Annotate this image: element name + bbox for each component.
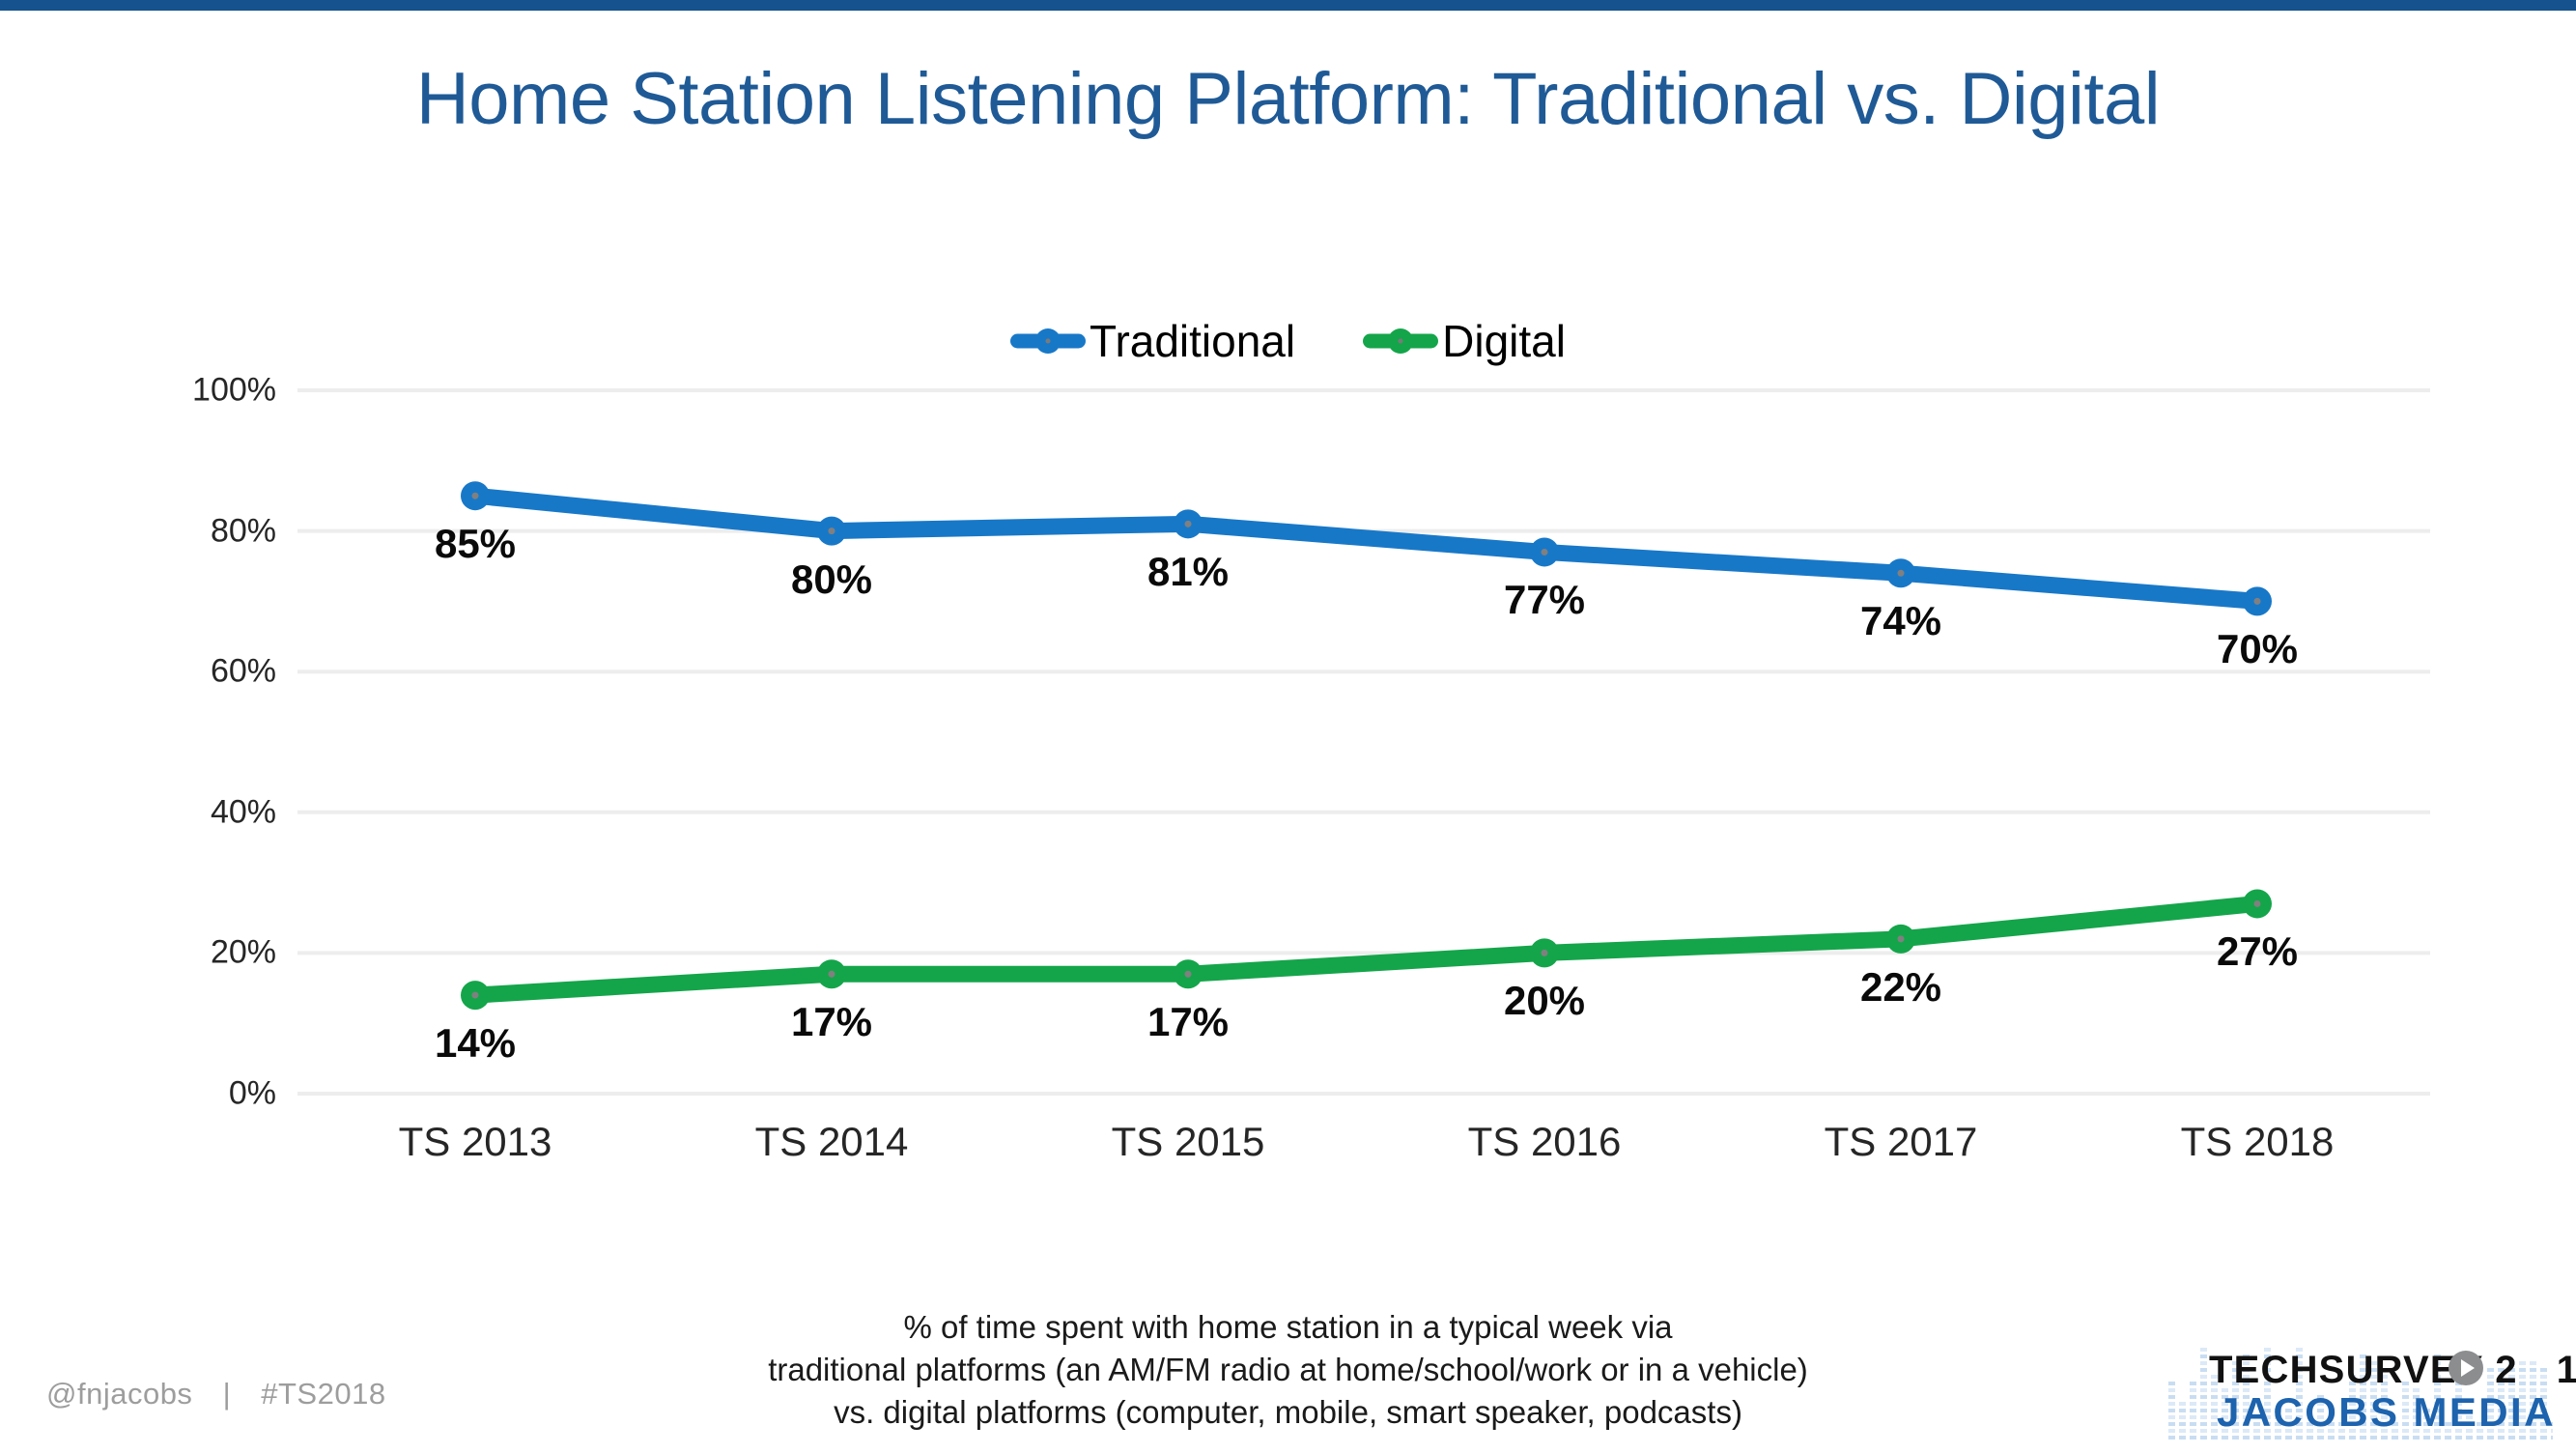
data-point-center [472, 493, 479, 499]
data-point-center [2254, 598, 2261, 605]
data-label-digital: 17% [716, 999, 948, 1045]
logo-line-1: TECHSURVEY 218 [2209, 1349, 2576, 1392]
data-point-center [1542, 950, 1548, 956]
logo-wordmark: TECHSURVEY 218 JACOBS MEDIA [2166, 1333, 2553, 1440]
y-axis-tick-label: 20% [83, 934, 276, 972]
data-label-traditional: 85% [359, 521, 591, 567]
y-axis-tick-label: 0% [83, 1075, 276, 1113]
x-axis-tick-label: TS 2016 [1371, 1119, 1718, 1165]
data-point-center [829, 971, 835, 978]
logo-line-2: JACOBS MEDIA [2217, 1389, 2556, 1436]
data-label-digital: 17% [1072, 999, 1304, 1045]
x-axis-tick-label: TS 2017 [1727, 1119, 2075, 1165]
data-point-center [1185, 971, 1192, 978]
data-label-digital: 14% [359, 1020, 591, 1067]
social-handle-line: @fnjacobs | #TS2018 [46, 1377, 386, 1411]
y-axis-tick-label: 40% [83, 793, 276, 831]
x-axis-tick-label: TS 2014 [658, 1119, 1005, 1165]
data-label-traditional: 70% [2141, 626, 2373, 672]
data-label-traditional: 80% [716, 556, 948, 603]
data-point-center [1542, 549, 1548, 556]
y-axis-tick-label: 100% [83, 372, 276, 410]
data-label-digital: 22% [1785, 964, 2017, 1011]
data-point-center [1185, 521, 1192, 527]
hashtag[interactable]: #TS2018 [261, 1377, 385, 1411]
y-axis-tick-label: 60% [83, 653, 276, 691]
twitter-handle[interactable]: @fnjacobs [46, 1377, 192, 1411]
play-circle-icon [2449, 1351, 2483, 1385]
data-label-traditional: 74% [1785, 598, 2017, 644]
x-axis-tick-label: TS 2013 [301, 1119, 649, 1165]
y-axis-tick-label: 80% [83, 512, 276, 550]
data-label-traditional: 77% [1429, 577, 1660, 623]
logo-year-suffix: 18 [2518, 1349, 2576, 1391]
line-chart [0, 0, 2576, 1449]
data-point-center [472, 992, 479, 999]
data-label-traditional: 81% [1072, 549, 1304, 595]
data-point-center [2254, 900, 2261, 907]
x-axis-tick-label: TS 2015 [1014, 1119, 1362, 1165]
data-label-digital: 27% [2141, 928, 2373, 975]
data-label-digital: 20% [1429, 978, 1660, 1024]
jacobs-media-logo: TECHSURVEY 218 JACOBS MEDIA [2166, 1333, 2553, 1440]
data-point-center [1898, 570, 1905, 577]
chart-canvas [0, 0, 2576, 1449]
data-point-center [1898, 935, 1905, 942]
data-point-center [829, 527, 835, 534]
handle-separator: | [202, 1377, 253, 1411]
x-axis-tick-label: TS 2018 [2083, 1119, 2431, 1165]
